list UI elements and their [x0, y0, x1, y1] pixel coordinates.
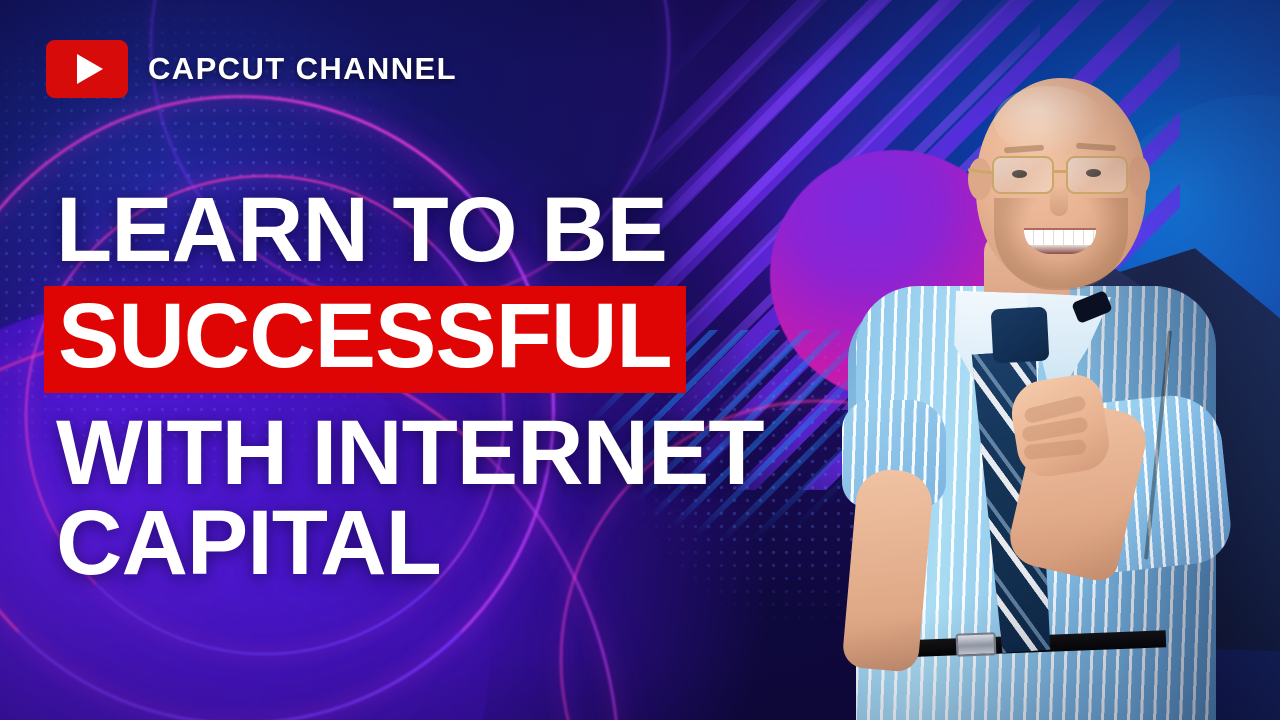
headline-block: LEARN TO BE SUCCESSFUL WITH INTERNET CAP… — [56, 186, 896, 587]
headline-highlight-box: SUCCESSFUL — [44, 286, 686, 392]
play-button-icon[interactable] — [46, 40, 128, 98]
thumbnail-canvas: CAPCUT CHANNEL LEARN TO BE SUCCESSFUL WI… — [0, 0, 1280, 720]
channel-name-label: CAPCUT CHANNEL — [148, 51, 457, 87]
play-triangle-icon — [77, 54, 103, 84]
headline-line-2: SUCCESSFUL — [58, 292, 672, 380]
headline-line-1: LEARN TO BE — [56, 186, 896, 274]
headline-line-3: WITH INTERNET — [56, 409, 896, 497]
headline-line-4: CAPITAL — [56, 499, 896, 587]
channel-badge[interactable]: CAPCUT CHANNEL — [46, 40, 457, 98]
